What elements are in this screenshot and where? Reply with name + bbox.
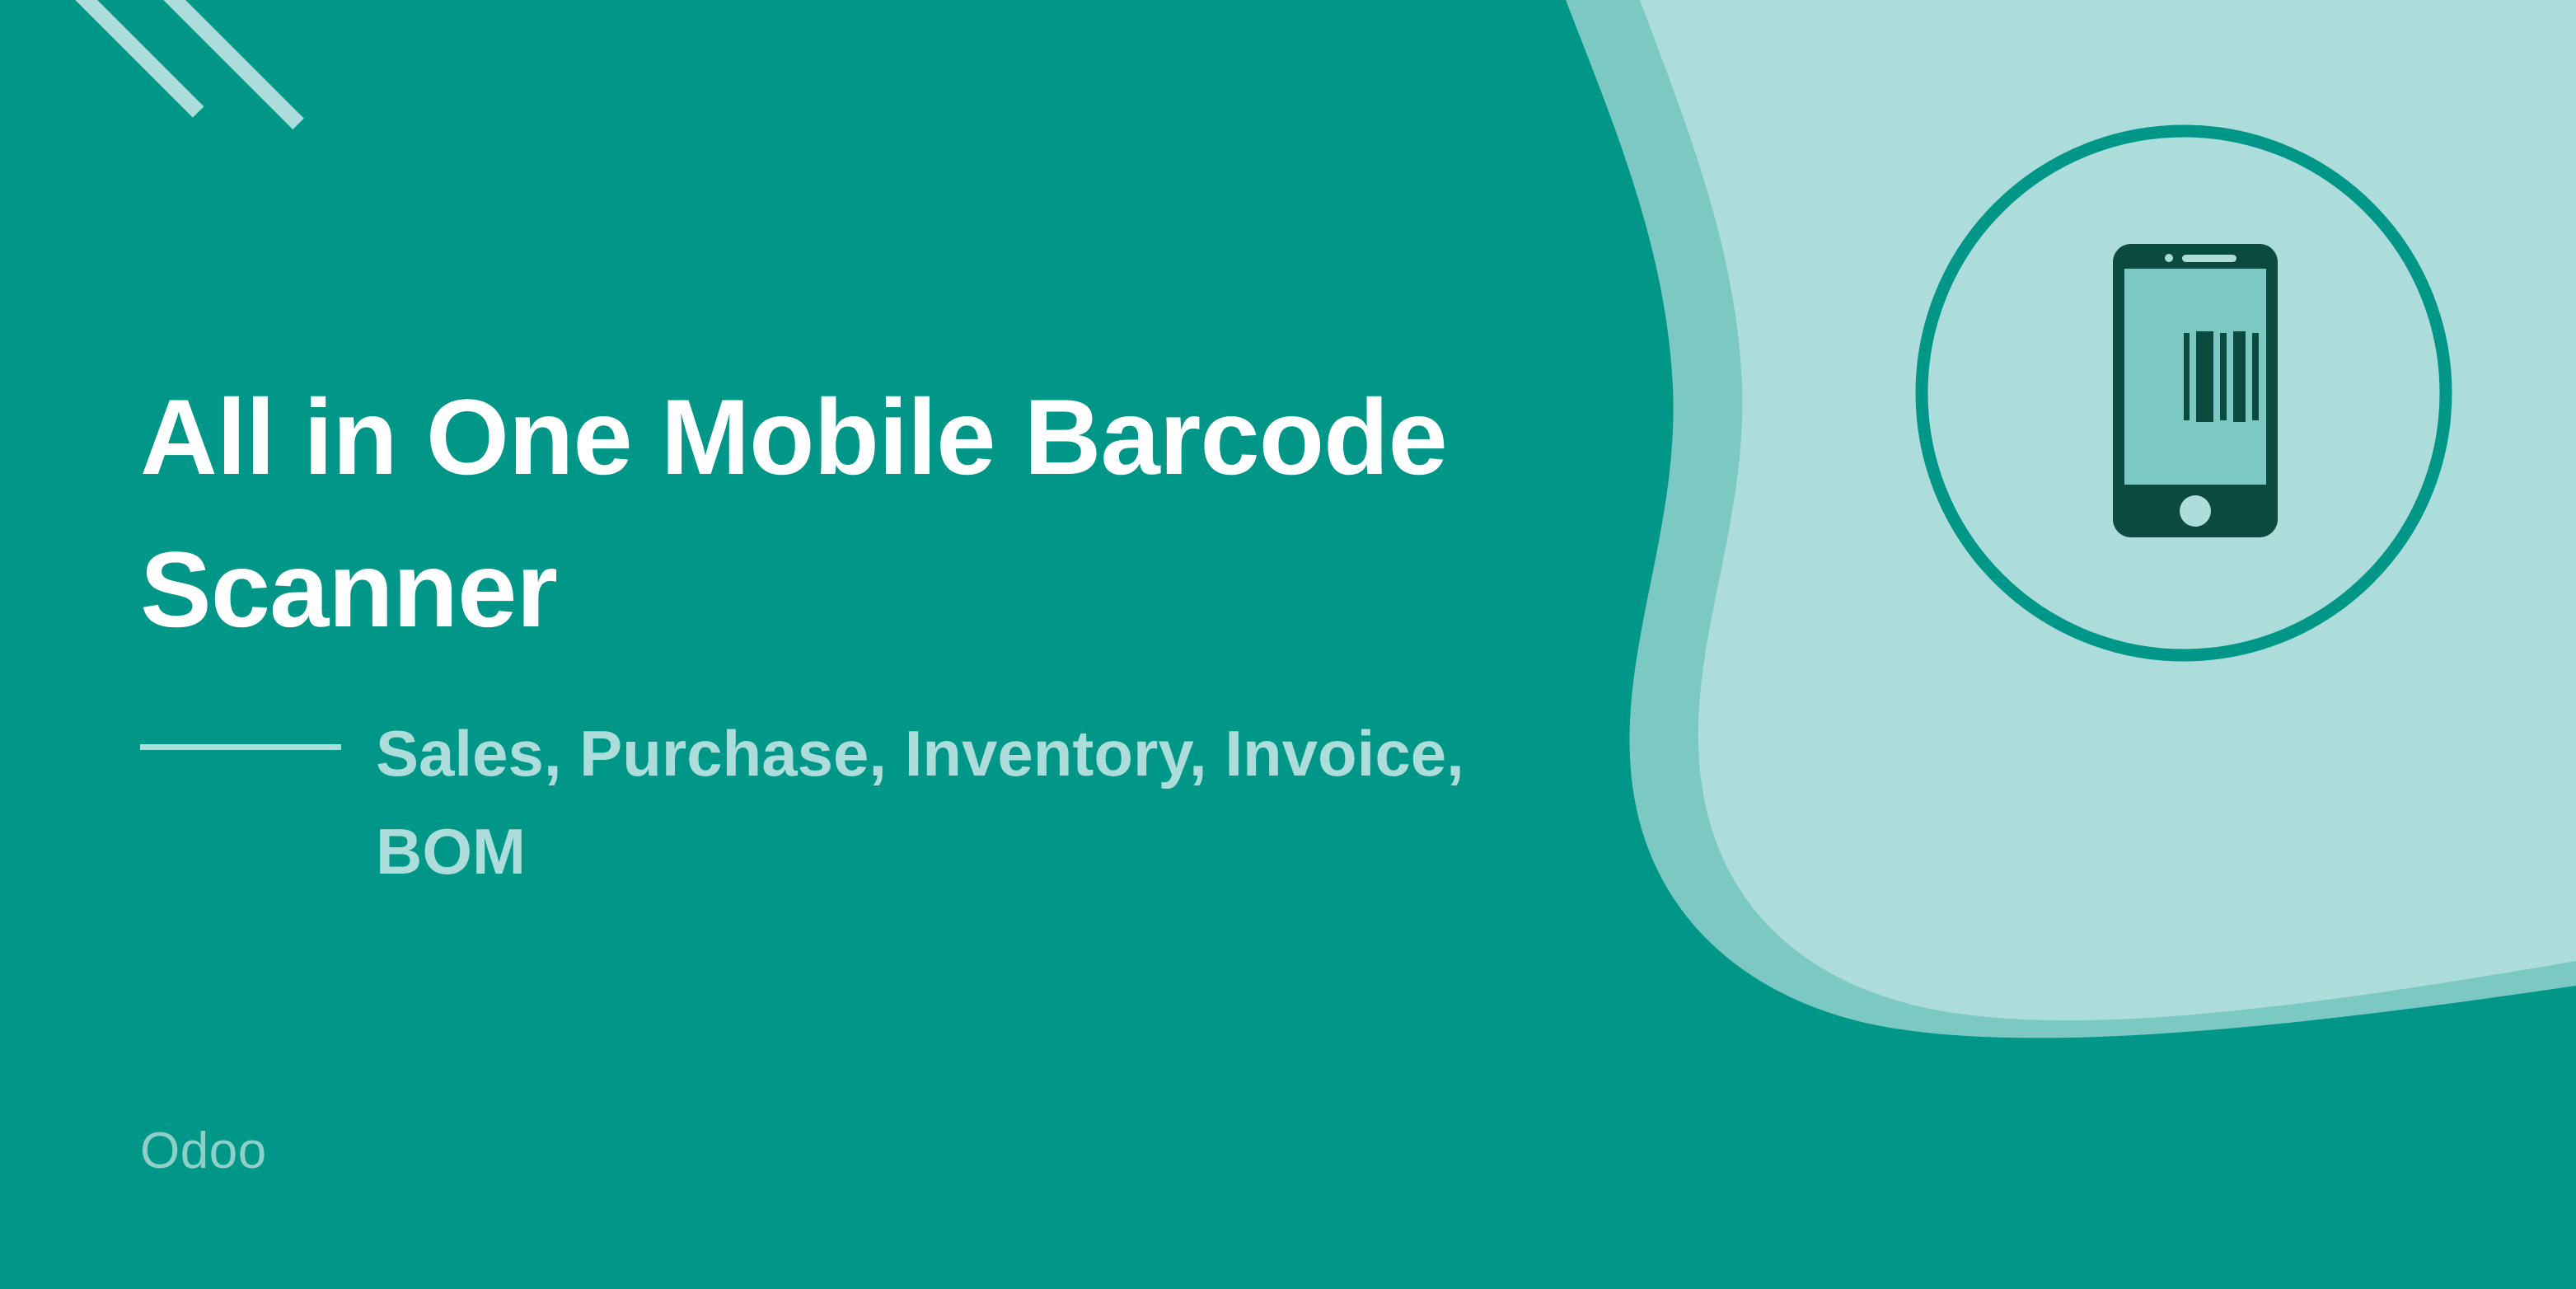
slide-subtitle: Sales, Purchase, Inventory, Invoice, BOM <box>376 705 1706 902</box>
slide-text-content: All in One Mobile Barcode Scanner Sales,… <box>140 0 1755 1289</box>
phone-speaker-icon <box>2182 255 2236 262</box>
slide-title: All in One Mobile Barcode Scanner <box>140 361 1706 665</box>
subtitle-rule-divider <box>140 744 341 750</box>
blob-light-teal <box>1640 0 2576 1020</box>
barcode-bars <box>2184 331 2274 422</box>
barcode-bar-6 <box>2268 333 2274 420</box>
phone-home-button <box>2180 495 2211 527</box>
presentation-slide: All in One Mobile Barcode Scanner Sales,… <box>0 0 2576 1289</box>
barcode-bar-1 <box>2184 333 2190 420</box>
phone-screen <box>2124 269 2266 485</box>
barcode-bar-5 <box>2252 333 2259 420</box>
barcode-bar-2 <box>2196 331 2213 422</box>
phone-body <box>2113 244 2278 537</box>
phone-camera-icon <box>2165 254 2173 262</box>
circle-ring-outline <box>1922 131 2446 655</box>
mobile-phone-barcode-icon <box>2113 244 2278 537</box>
barcode-bar-3 <box>2220 333 2227 420</box>
brand-label: Odoo <box>140 1126 267 1177</box>
slide-subtitle-row: Sales, Purchase, Inventory, Invoice, BOM <box>140 705 1706 902</box>
barcode-bar-4 <box>2233 331 2246 422</box>
